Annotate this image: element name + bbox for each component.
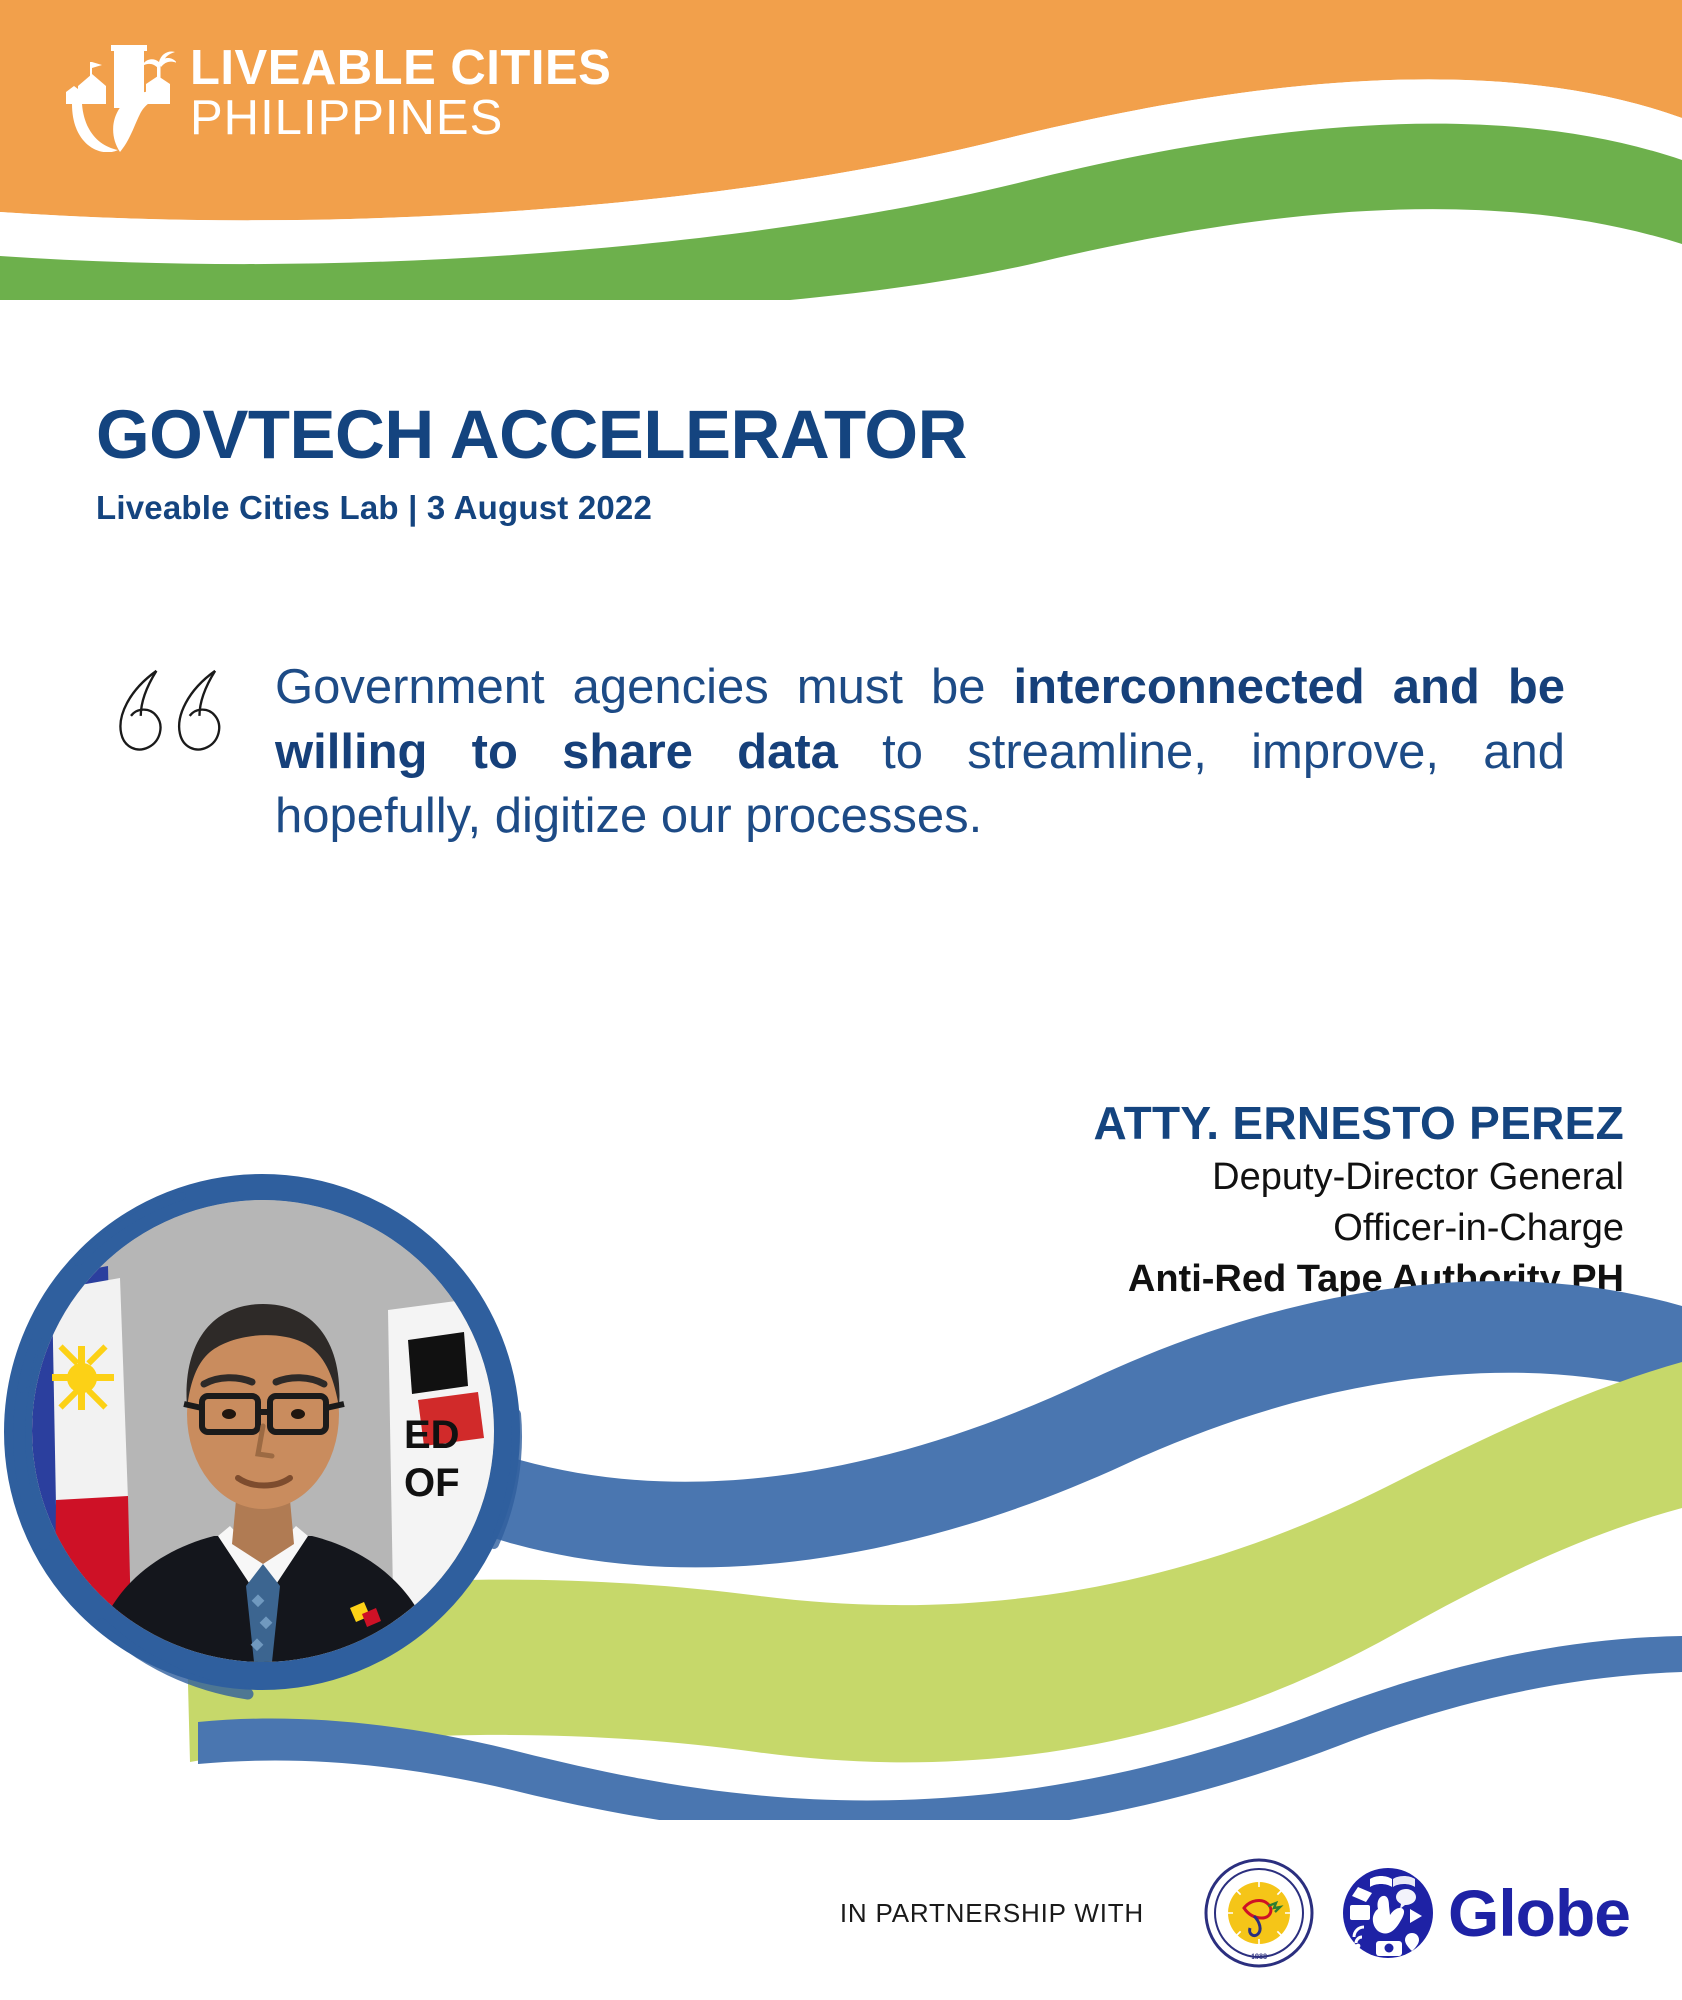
brand-line-1: LIVEABLE CITIES (190, 44, 611, 92)
speaker-photo-illustration: ED OF (32, 1200, 494, 1662)
svg-text:OF: OF (404, 1461, 460, 1505)
partnership-label: IN PARTNERSHIP WITH (840, 1898, 1144, 1929)
quote-text: Government agencies must be interconnect… (275, 655, 1565, 849)
liveable-cities-leaf-city-logo-icon (58, 34, 176, 152)
portrait-avatar: ED OF (0, 1152, 542, 1712)
page-title: GOVTECH ACCELERATOR (96, 400, 1496, 469)
seal-year: 1988 (1251, 1952, 1267, 1961)
svg-text:ED: ED (404, 1413, 460, 1457)
globe-telecom-logo: Globe (1340, 1865, 1630, 1961)
brand-logo-lockup: LIVEABLE CITIES PHILIPPINES (58, 34, 611, 152)
title-block: GOVTECH ACCELERATOR Liveable Cities Lab … (96, 400, 1496, 527)
poster-canvas: LIVEABLE CITIES PHILIPPINES GOVTECH ACCE… (0, 0, 1682, 2000)
page-subtitle: Liveable Cities Lab | 3 August 2022 (96, 489, 1496, 527)
open-quote-icon (110, 665, 240, 755)
header-banner: LIVEABLE CITIES PHILIPPINES (0, 0, 1682, 300)
league-of-cities-of-the-philippines-seal-icon: 1988 (1204, 1858, 1314, 1968)
speaker-photo: ED OF (32, 1200, 494, 1662)
globe-wordmark: Globe (1448, 1875, 1630, 1951)
globe-mark-icon (1340, 1865, 1436, 1961)
quote-segment-plain-1: Government agencies must be (275, 660, 1013, 714)
brand-line-2: PHILIPPINES (190, 94, 611, 142)
quote-block: Government agencies must be interconnect… (110, 655, 1590, 849)
footer-partners: IN PARTNERSHIP WITH 1988 (0, 1858, 1682, 1968)
